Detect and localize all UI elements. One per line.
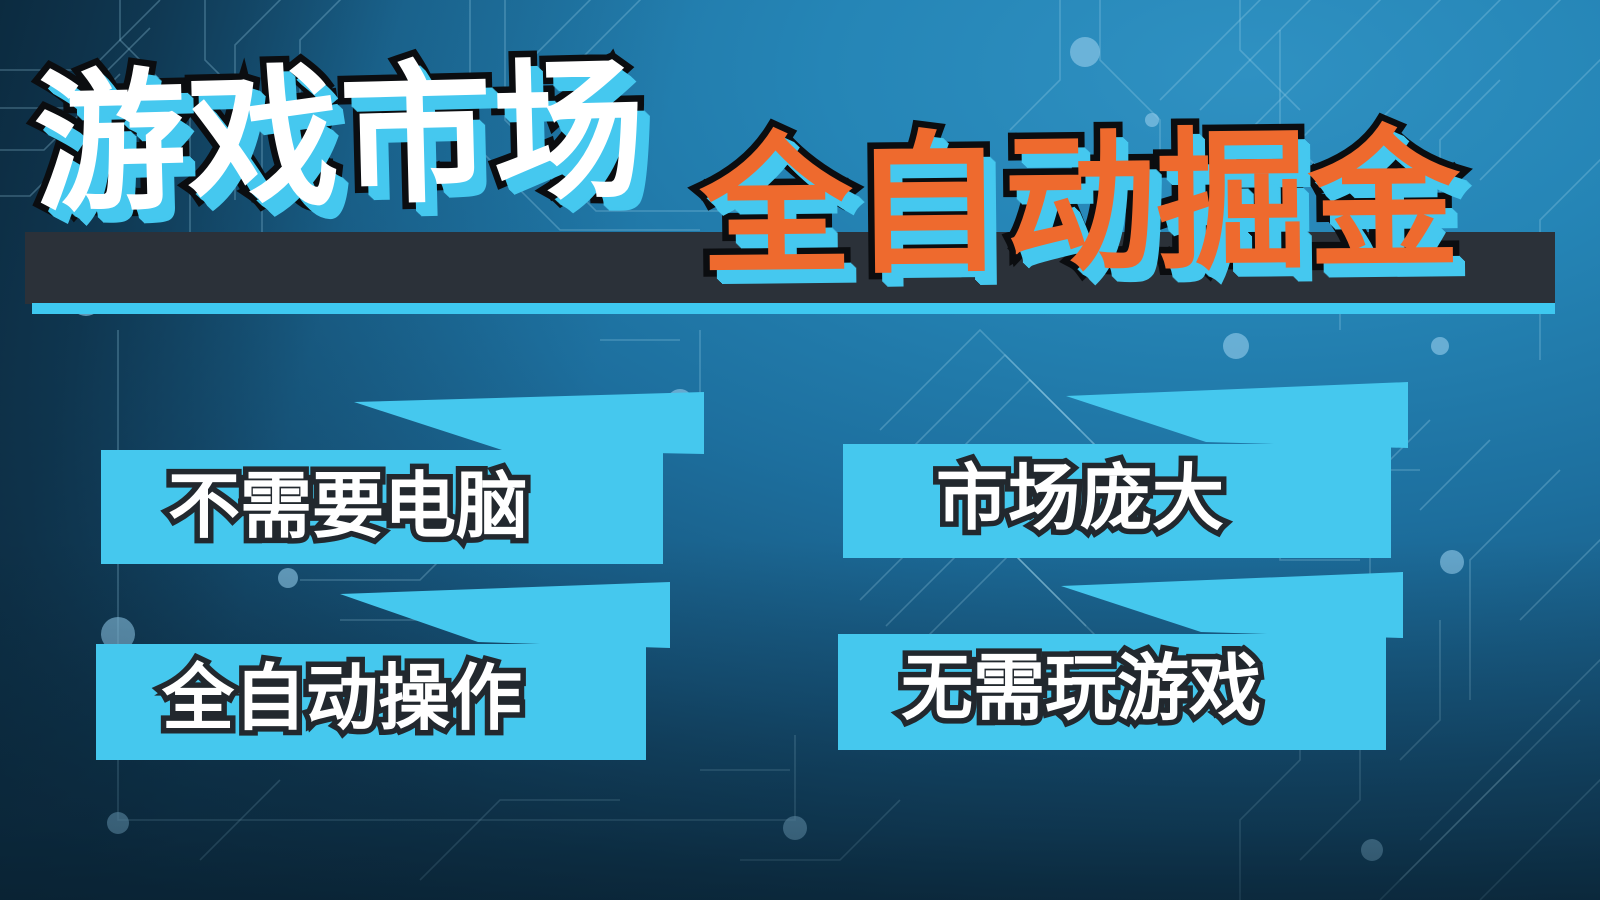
feature-huge-market: 市场庞大 bbox=[838, 382, 1408, 557]
cyan-wedge-accent bbox=[340, 582, 670, 648]
feature-fully-automatic: 全自动操作 bbox=[90, 582, 665, 760]
cyan-wedge-accent bbox=[354, 392, 704, 454]
feature-label: 无需玩游戏 bbox=[901, 652, 1261, 724]
feature-label: 不需要电脑 bbox=[168, 470, 528, 542]
feature-no-gameplay: 无需玩游戏 bbox=[833, 572, 1403, 750]
promotional-poster: 游戏市场 全自动掘金 不需要电脑 市场庞大 全自动操作 无需玩游戏 bbox=[0, 0, 1600, 900]
feature-label: 市场庞大 bbox=[936, 462, 1224, 534]
feature-no-computer: 不需要电脑 bbox=[96, 392, 696, 567]
headline-primary-text: 游戏市场 bbox=[32, 55, 648, 222]
cyan-wedge-accent bbox=[1061, 572, 1403, 638]
feature-label: 全自动操作 bbox=[162, 662, 522, 734]
cyan-wedge-accent bbox=[1066, 382, 1408, 448]
headline-accent-text: 全自动掘金 bbox=[699, 124, 1461, 284]
headline-group: 游戏市场 全自动掘金 bbox=[0, 0, 1600, 330]
